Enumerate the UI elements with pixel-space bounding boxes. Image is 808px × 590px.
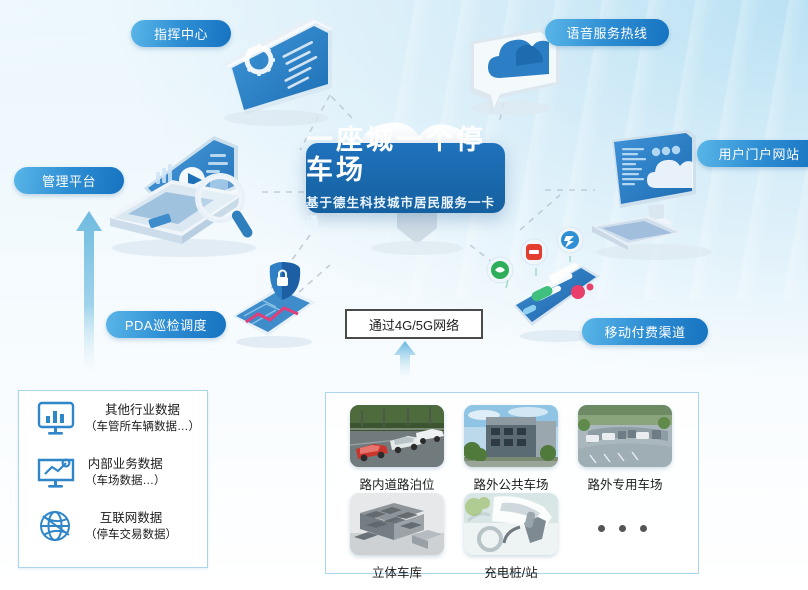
scenario-tile[interactable]: 立体车库 (350, 493, 444, 581)
data-source-row[interactable]: 其他行业数据 （车管所车辆数据…） (19, 391, 207, 445)
public-off-street-lot-photo (464, 405, 558, 467)
label-management-platform[interactable]: 管理平台 (14, 167, 124, 194)
multi-level-garage-photo (350, 493, 444, 555)
label-mobile-payment[interactable]: 移动付费渠道 (582, 318, 708, 345)
dot-icon (640, 525, 647, 532)
banner-subtitle: 基于德生科技城市居民服务一卡通 (306, 192, 505, 230)
data-flow-up-arrow (75, 211, 103, 381)
scenario-tile[interactable]: 路内道路泊位 (350, 405, 444, 493)
dot-icon (619, 525, 626, 532)
more-scenarios-indicator (598, 525, 647, 532)
globe-network-icon (33, 506, 79, 546)
monitor-bar-chart-icon (33, 398, 79, 438)
dot-icon (598, 525, 605, 532)
on-street-parking-photo (350, 405, 444, 467)
scenario-caption: 路外专用车场 (587, 474, 662, 493)
label-pda-patrol[interactable]: PDA巡检调度 (106, 311, 226, 338)
label-voice-hotline[interactable]: 语音服务热线 (545, 19, 669, 46)
data-source-title: 其他行业数据 (85, 401, 200, 419)
data-source-text: 内部业务数据 （车场数据…） (85, 455, 166, 490)
network-label-box: 通过4G/5G网络 (345, 309, 483, 339)
label-user-portal[interactable]: 用户门户网站 (697, 140, 808, 167)
scenario-caption: 路内道路泊位 (359, 474, 434, 493)
banner-title: 一座城一个停车场 (306, 126, 505, 185)
laptop-with-magnifier-icon (92, 132, 272, 260)
dedicated-off-street-lot-photo (578, 405, 672, 467)
data-source-text: 其他行业数据 （车管所车辆数据…） (85, 401, 200, 436)
scenario-tile[interactable]: 充电桩/站 (464, 493, 558, 581)
data-source-title: 内部业务数据 (85, 455, 166, 473)
data-source-text: 互联网数据 （停车交易数据） (85, 509, 177, 544)
data-source-detail: （停车交易数据） (85, 527, 177, 544)
scenario-tile[interactable]: 路外专用车场 (578, 405, 672, 493)
data-sources-panel: 其他行业数据 （车管所车辆数据…） 内部业务数据 （车场数据…） (18, 390, 208, 568)
data-source-detail: （车管所车辆数据…） (85, 419, 200, 436)
monitor-line-chart-icon (33, 452, 79, 492)
infographic-canvas: 一座城一个停车场 基于德生科技城市居民服务一卡通 (0, 0, 808, 590)
central-banner: 一座城一个停车场 基于德生科技城市居民服务一卡通 (306, 143, 505, 213)
scenario-tile[interactable]: 路外公共车场 (464, 405, 558, 493)
parking-scenarios-panel: 路内道路泊位 (325, 392, 699, 574)
data-source-detail: （车场数据…） (85, 473, 166, 490)
gear-dashboard-screen-icon (214, 18, 340, 130)
ev-charging-station-photo (464, 493, 558, 555)
data-source-title: 互联网数据 (85, 509, 177, 527)
tablet-map-shield-lock-icon (218, 258, 326, 350)
data-source-row[interactable]: 内部业务数据 （车场数据…） (19, 445, 207, 499)
scenario-caption: 路外公共车场 (473, 474, 548, 493)
scenario-caption: 立体车库 (372, 562, 422, 581)
data-source-row[interactable]: 互联网数据 （停车交易数据） (19, 499, 207, 553)
scenario-caption: 充电桩/站 (484, 562, 537, 581)
network-up-arrow (393, 341, 417, 381)
label-command-center[interactable]: 指挥中心 (131, 20, 231, 47)
